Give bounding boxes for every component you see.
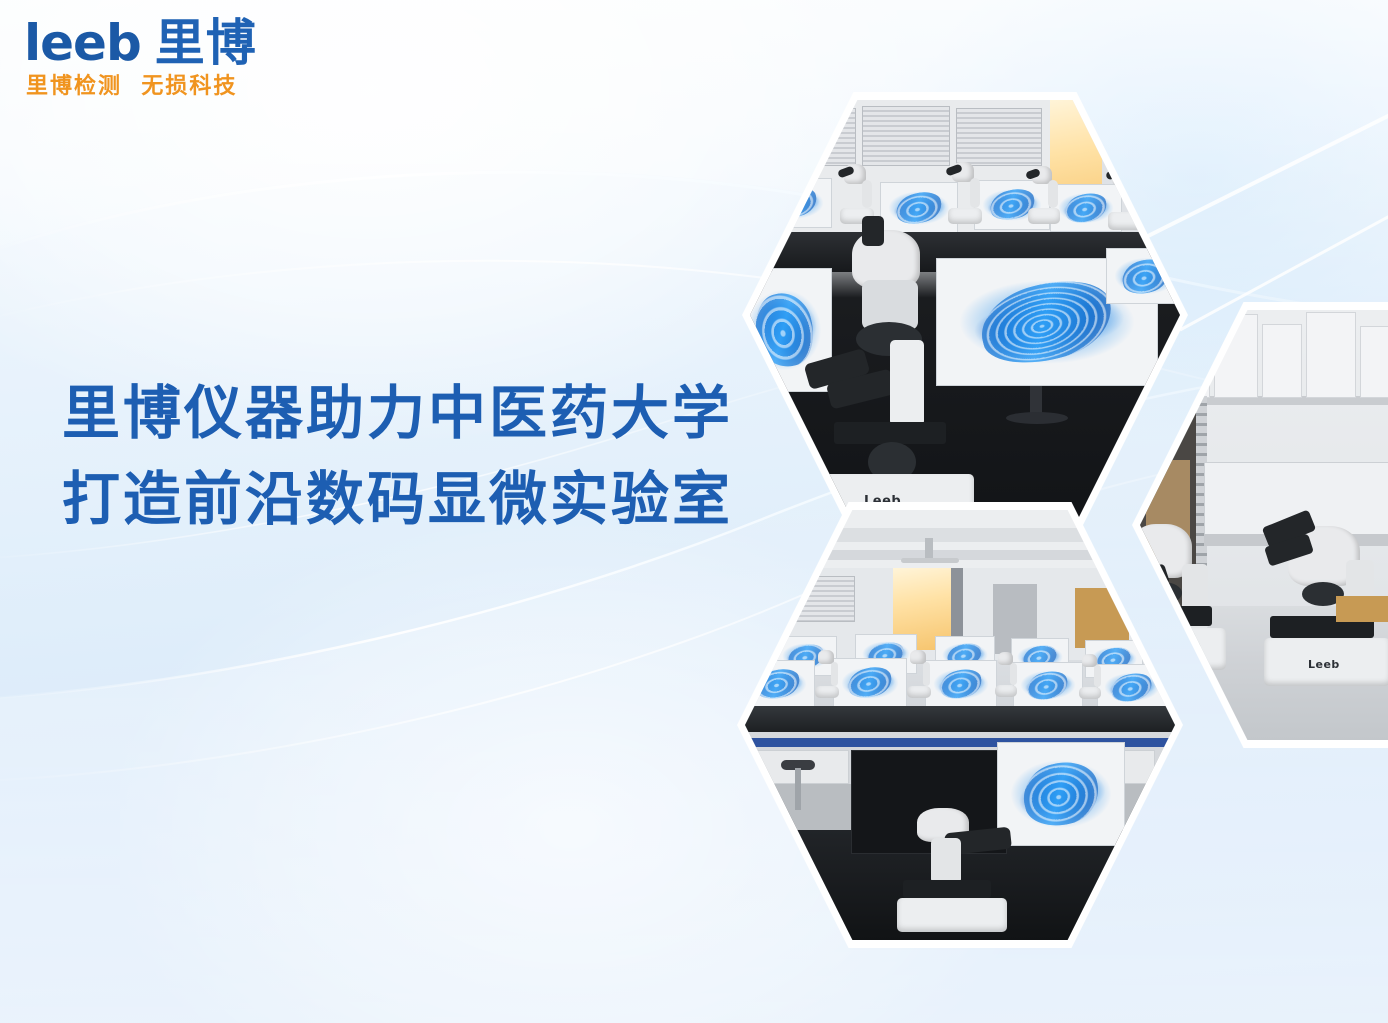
logo-wordmark-row: leeb 里博: [24, 16, 318, 68]
logo-wordmark-latin: leeb: [24, 18, 141, 68]
logo-wordmark-chinese: 里博: [155, 18, 257, 68]
brand-logo: leeb 里博 里博检测 无损科技: [18, 16, 318, 102]
promo-banner: leeb 里博 里博检测 无损科技 里博仪器助力中医药大学 打造前沿数码显微实验…: [0, 0, 1388, 1023]
logo-tagline: 里博检测 无损科技: [26, 74, 318, 100]
headline-block: 里博仪器助力中医药大学 打造前沿数码显微实验室: [62, 370, 762, 542]
headline-line-2: 打造前沿数码显微实验室: [62, 456, 762, 542]
hex-photo-bottom: [745, 510, 1175, 940]
hexagon-photo-collage: Leeb Leeb: [700, 95, 1388, 935]
hex-photo-top: Leeb: [750, 100, 1180, 530]
headline-line-1: 里博仪器助力中医药大学: [62, 370, 762, 456]
